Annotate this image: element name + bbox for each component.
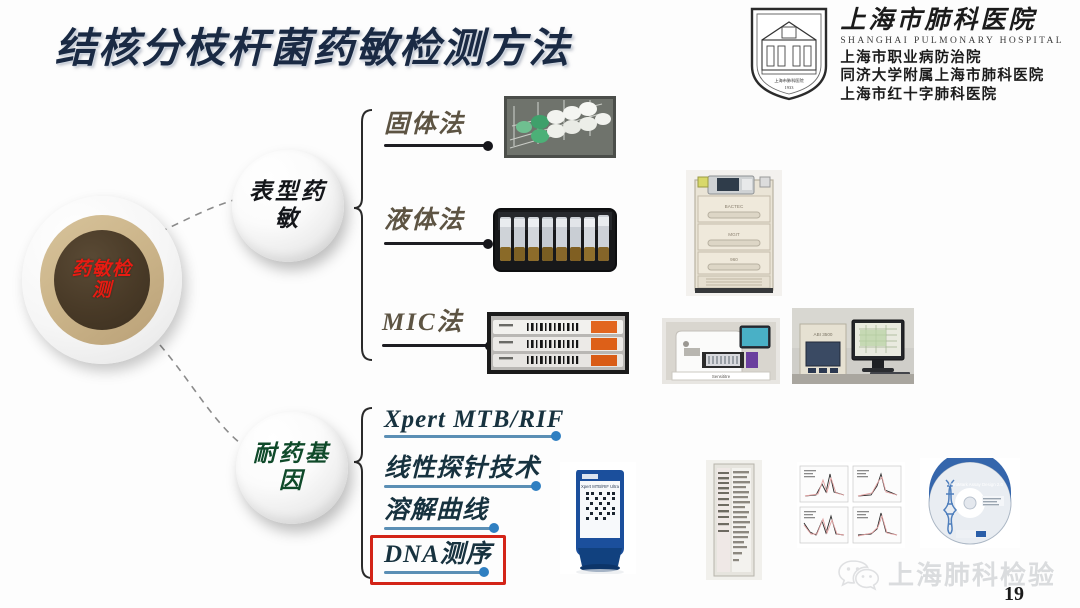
branch-xpert-rule	[384, 435, 556, 438]
lj-slant-culture-tubes-photo	[504, 96, 616, 158]
central-hub-node[interactable]: 药敏检测	[22, 196, 182, 364]
node-phenotype-label: 表型药敏	[248, 179, 328, 232]
wechat-icon	[838, 557, 880, 591]
melting-curve-plots-photo	[797, 462, 905, 548]
svg-text:Xpert MTB/RIF Ultra: Xpert MTB/RIF Ultra	[581, 484, 620, 489]
svg-text:Sensititre: Sensititre	[712, 374, 731, 379]
mgit-liquid-culture-tubes-photo	[492, 207, 618, 273]
bracket-phenotype	[354, 110, 372, 360]
hospital-subname-1: 上海市职业病防治院	[840, 51, 981, 66]
branch-liquid-method-label: 液体法	[384, 200, 494, 236]
analyzer-with-monitor-instrument: ABI 3500	[792, 308, 914, 384]
hospital-crest-icon: 上海市肺科医院 1933	[748, 6, 830, 102]
connector-hub-to-phenotype	[160, 200, 234, 232]
branch-solid-method-rule	[384, 144, 488, 147]
branch-mic-method-label: MIC法	[382, 302, 498, 338]
hospital-logo: 上海市肺科医院 1933 上海市肺科医院 SHANGHAI PULMONARY …	[748, 6, 1064, 102]
hub-label: 药敏检测	[65, 259, 139, 302]
node-phenotype[interactable]: 表型药敏	[232, 150, 344, 262]
node-gene-label: 耐药基因	[252, 441, 332, 494]
xpert-cartridge-photo: Xpert MTB/RIF Ultra	[560, 462, 636, 574]
svg-text:960: 960	[730, 257, 738, 262]
hub-ring: 药敏检测	[40, 215, 164, 345]
mic-test-strips-photo	[487, 312, 629, 374]
branch-solid-method[interactable]: 固体法	[384, 104, 494, 147]
branch-xpert-label: Xpert MTB/RIF	[384, 406, 560, 434]
hub-core: 药敏检测	[54, 230, 150, 330]
branch-mic-method-rule	[382, 344, 490, 347]
hospital-name-en: SHANGHAI PULMONARY HOSPITAL	[840, 37, 1064, 47]
connector-hub-to-gene	[160, 345, 240, 443]
branch-mic-method[interactable]: MIC法	[382, 302, 498, 347]
svg-text:BACTEC: BACTEC	[725, 204, 744, 209]
mgit-960-instrument: BACTEC MGIT 960	[686, 170, 782, 296]
page-number: 19	[1004, 583, 1024, 606]
svg-text:PyroMark Assay Design 2.0: PyroMark Assay Design 2.0	[949, 482, 1003, 487]
sequencing-software-disc-photo: PyroMark Assay Design 2.0	[920, 458, 1020, 548]
branch-melting-curve[interactable]: 溶解曲线	[384, 490, 514, 530]
hospital-subname-2: 同济大学附属上海市肺科医院	[840, 69, 1044, 84]
microplate-reader-instrument: Sensititre	[662, 318, 780, 384]
svg-text:ABI 3500: ABI 3500	[814, 332, 833, 337]
crest-year: 1933	[785, 85, 795, 90]
branch-xpert[interactable]: Xpert MTB/RIF	[384, 406, 560, 438]
hospital-name-cn: 上海市肺科医院	[840, 8, 1036, 33]
crest-institution-text: 上海市肺科医院	[775, 77, 805, 84]
slide-canvas: 结核分枝杆菌药敏检测方法 上海市肺科医院 1933 上海市肺科医院 SHANGH…	[0, 0, 1080, 608]
branch-line-probe-rule	[384, 485, 536, 488]
branch-solid-method-label: 固体法	[384, 104, 494, 140]
branch-melting-curve-rule	[384, 527, 494, 530]
watermark-text: 上海肺科检验	[888, 555, 1056, 592]
branch-line-probe-label: 线性探针技术	[384, 448, 544, 484]
node-gene[interactable]: 耐药基因	[236, 412, 348, 524]
line-probe-assay-strip-photo	[706, 460, 762, 580]
dna-sequencing-highlight-box	[370, 535, 506, 585]
branch-melting-curve-label: 溶解曲线	[384, 490, 514, 526]
svg-text:MGIT: MGIT	[728, 232, 740, 237]
branch-line-probe[interactable]: 线性探针技术	[384, 448, 544, 488]
branch-liquid-method-rule	[384, 242, 488, 245]
branch-liquid-method[interactable]: 液体法	[384, 200, 494, 245]
page-title: 结核分枝杆菌药敏检测方法	[55, 14, 571, 74]
hospital-subname-3: 上海市红十字肺科医院	[840, 88, 997, 103]
